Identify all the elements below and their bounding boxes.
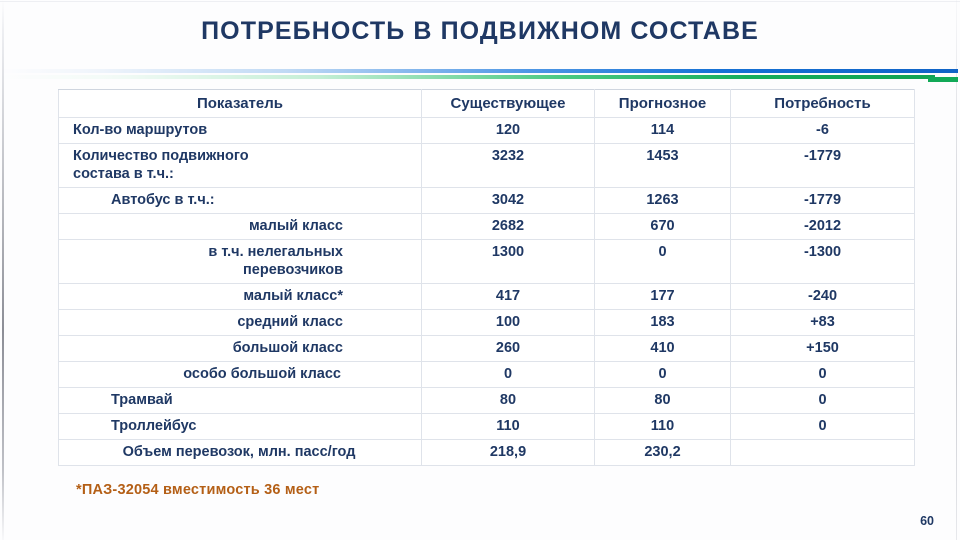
row-label-cell: особо большой класс (59, 362, 422, 388)
table-row: Автобус в т.ч.:30421263-1779 (59, 188, 915, 214)
row-label: малый класс (59, 214, 421, 239)
cell-existing: 120 (422, 118, 595, 144)
slide-canvas: ПОТРЕБНОСТЬ В ПОДВИЖНОМ СОСТАВЕ Показате… (0, 0, 960, 540)
cell-forecast-value: 177 (595, 284, 730, 309)
row-label-cell: в т.ч. нелегальных перевозчиков (59, 240, 422, 284)
cell-forecast: 670 (595, 214, 731, 240)
table-row: малый класс2682670-2012 (59, 214, 915, 240)
cell-forecast: 1453 (595, 144, 731, 188)
left-edge-accent-line (2, 0, 4, 540)
cell-need: +150 (731, 336, 915, 362)
rolling-stock-table: Показатель Существующее Прогнозное Потре… (58, 89, 915, 466)
cell-need-value: 0 (731, 362, 914, 387)
divider-green-line (0, 75, 935, 79)
cell-forecast-value: 114 (595, 118, 730, 143)
column-header-forecast: Прогнозное (595, 90, 731, 118)
row-label-cell: большой класс (59, 336, 422, 362)
cell-need: -2012 (731, 214, 915, 240)
cell-need-value: -6 (731, 118, 914, 143)
cell-forecast: 0 (595, 362, 731, 388)
cell-forecast: 230,2 (595, 440, 731, 466)
cell-forecast: 177 (595, 284, 731, 310)
table-row: Трамвай80800 (59, 388, 915, 414)
column-header-existing: Существующее (422, 90, 595, 118)
row-label: средний класс (59, 310, 421, 335)
cell-existing: 2682 (422, 214, 595, 240)
page-number: 60 (920, 514, 934, 528)
row-label-cell: Трамвай (59, 388, 422, 414)
rolling-stock-table-container: Показатель Существующее Прогнозное Потре… (58, 89, 914, 466)
cell-forecast: 80 (595, 388, 731, 414)
page-title: ПОТРЕБНОСТЬ В ПОДВИЖНОМ СОСТАВЕ (0, 17, 960, 46)
cell-existing: 100 (422, 310, 595, 336)
column-header-indicator: Показатель (59, 90, 422, 118)
cell-need-value: -1300 (731, 240, 914, 265)
cell-existing: 1300 (422, 240, 595, 284)
row-label: Количество подвижного состава в т.ч.: (59, 144, 421, 187)
cell-need-value (731, 440, 914, 447)
cell-forecast-value: 80 (595, 388, 730, 413)
table-row: Кол-во маршрутов120114-6 (59, 118, 915, 144)
cell-forecast: 0 (595, 240, 731, 284)
cell-forecast-value: 110 (595, 414, 730, 439)
table-row: Количество подвижного состава в т.ч.:323… (59, 144, 915, 188)
row-label: Троллейбус (59, 414, 421, 439)
row-label: большой класс (59, 336, 421, 361)
cell-existing: 110 (422, 414, 595, 440)
cell-need: 0 (731, 414, 915, 440)
cell-existing: 0 (422, 362, 595, 388)
cell-forecast-value: 183 (595, 310, 730, 335)
cell-need-value: +83 (731, 310, 914, 335)
cell-need: +83 (731, 310, 915, 336)
cell-existing-value: 0 (422, 362, 594, 387)
cell-need: -1779 (731, 144, 915, 188)
divider-blue-line (0, 69, 958, 73)
table-row: Объем перевозок, млн. пасс/год218,9230,2 (59, 440, 915, 466)
cell-existing-value: 100 (422, 310, 594, 335)
row-label: Объем перевозок, млн. пасс/год (59, 440, 421, 465)
table-row: в т.ч. нелегальных перевозчиков13000-130… (59, 240, 915, 284)
cell-forecast: 110 (595, 414, 731, 440)
cell-existing-value: 110 (422, 414, 594, 439)
cell-need: -1779 (731, 188, 915, 214)
table-row: средний класс100183+83 (59, 310, 915, 336)
row-label: особо большой класс (59, 362, 421, 387)
cell-forecast-value: 0 (595, 362, 730, 387)
cell-forecast-value: 1453 (595, 144, 730, 169)
cell-existing-value: 1300 (422, 240, 594, 265)
cell-need (731, 440, 915, 466)
cell-existing-value: 3042 (422, 188, 594, 213)
row-label: Автобус в т.ч.: (59, 188, 421, 213)
table-header-row: Показатель Существующее Прогнозное Потре… (59, 90, 915, 118)
row-label-cell: малый класс* (59, 284, 422, 310)
cell-need-value: -2012 (731, 214, 914, 239)
cell-existing: 80 (422, 388, 595, 414)
cell-forecast: 183 (595, 310, 731, 336)
footnote-text: *ПАЗ-32054 вместимость 36 мест (76, 482, 319, 498)
table-row: малый класс*417177-240 (59, 284, 915, 310)
row-label-cell: Количество подвижного состава в т.ч.: (59, 144, 422, 188)
cell-existing-value: 218,9 (422, 440, 594, 465)
table-row: большой класс260410+150 (59, 336, 915, 362)
divider-green-tail (928, 77, 958, 82)
row-label-cell: Троллейбус (59, 414, 422, 440)
cell-need-value: -240 (731, 284, 914, 309)
cell-need: -240 (731, 284, 915, 310)
cell-need-value: +150 (731, 336, 914, 361)
cell-forecast-value: 1263 (595, 188, 730, 213)
cell-existing: 3042 (422, 188, 595, 214)
cell-forecast-value: 0 (595, 240, 730, 265)
column-header-need: Потребность (731, 90, 915, 118)
cell-need: -1300 (731, 240, 915, 284)
cell-forecast-value: 230,2 (595, 440, 730, 465)
cell-forecast: 114 (595, 118, 731, 144)
row-label: в т.ч. нелегальных перевозчиков (59, 240, 421, 283)
cell-existing-value: 80 (422, 388, 594, 413)
row-label-cell: Объем перевозок, млн. пасс/год (59, 440, 422, 466)
cell-existing: 417 (422, 284, 595, 310)
cell-existing: 218,9 (422, 440, 595, 466)
cell-need-value: 0 (731, 388, 914, 413)
cell-forecast-value: 410 (595, 336, 730, 361)
row-label: малый класс* (59, 284, 421, 309)
table-row: особо большой класс000 (59, 362, 915, 388)
cell-need: 0 (731, 388, 915, 414)
row-label: Трамвай (59, 388, 421, 413)
cell-existing-value: 3232 (422, 144, 594, 169)
row-label-cell: малый класс (59, 214, 422, 240)
title-divider (0, 66, 960, 80)
cell-existing-value: 120 (422, 118, 594, 143)
cell-forecast-value: 670 (595, 214, 730, 239)
cell-need-value: 0 (731, 414, 914, 439)
table-row: Троллейбус1101100 (59, 414, 915, 440)
cell-forecast: 410 (595, 336, 731, 362)
cell-forecast: 1263 (595, 188, 731, 214)
cell-need-value: -1779 (731, 144, 914, 169)
cell-need: -6 (731, 118, 915, 144)
top-edge-line (0, 1, 960, 2)
row-label-cell: средний класс (59, 310, 422, 336)
row-label: Кол-во маршрутов (59, 118, 421, 143)
cell-need: 0 (731, 362, 915, 388)
cell-existing-value: 260 (422, 336, 594, 361)
cell-need-value: -1779 (731, 188, 914, 213)
cell-existing-value: 2682 (422, 214, 594, 239)
cell-existing: 3232 (422, 144, 595, 188)
cell-existing: 260 (422, 336, 595, 362)
cell-existing-value: 417 (422, 284, 594, 309)
row-label-cell: Кол-во маршрутов (59, 118, 422, 144)
row-label-cell: Автобус в т.ч.: (59, 188, 422, 214)
